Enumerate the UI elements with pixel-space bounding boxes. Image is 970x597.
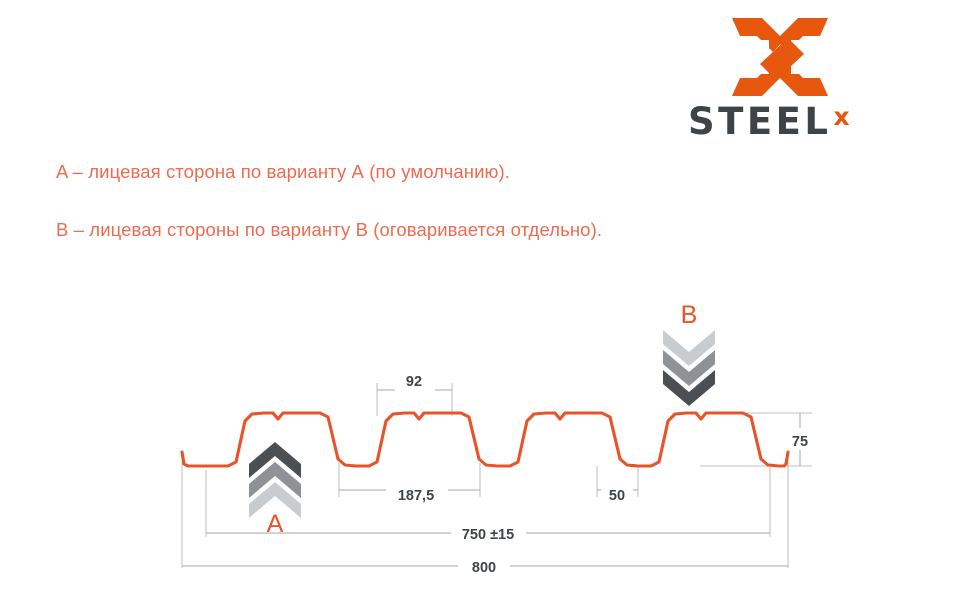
dimension-label-750: 750 ±15	[462, 527, 514, 543]
dimension-label-50: 50	[609, 488, 625, 504]
dimension-label-800: 800	[472, 560, 496, 576]
profile-cross-section-drawing: 92 187,5 50 75 750 ±15 800	[0, 0, 970, 597]
marker-label-a: A	[247, 512, 303, 537]
chevron-down-stack-icon	[661, 330, 717, 408]
dimension-labels: 92 187,5 50 75 750 ±15 800	[398, 374, 808, 576]
dimension-label-187-5: 187,5	[398, 488, 434, 504]
dimension-label-75: 75	[792, 434, 808, 450]
marker-label-b: B	[661, 303, 717, 328]
dimension-label-92: 92	[406, 374, 422, 390]
chevron-up-stack-icon	[247, 440, 303, 518]
